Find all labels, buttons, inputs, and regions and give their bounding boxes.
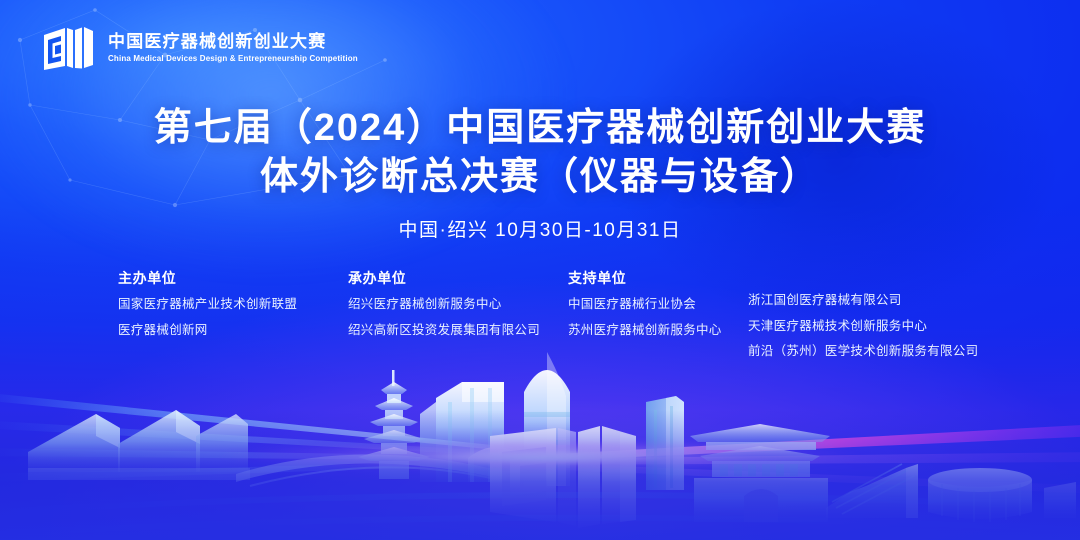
open-book-door-logo-icon bbox=[40, 22, 96, 74]
organizer-item: 医疗器械创新网 bbox=[118, 324, 348, 337]
page-title-line2: 体外诊断总决赛（仪器与设备） bbox=[0, 153, 1080, 202]
organizer-heading: 承办单位 bbox=[348, 268, 568, 288]
organizer-column-coorganizer: 承办单位 绍兴医疗器械创新服务中心 绍兴高新区投资发展集团有限公司 bbox=[348, 268, 568, 336]
organizer-heading: 主办单位 bbox=[118, 268, 348, 288]
event-location-date: 中国·绍兴 10月30日-10月31日 bbox=[0, 215, 1080, 242]
organizer-item: 中国医疗器械行业协会 bbox=[568, 298, 748, 311]
organizer-column-supporter-extra: 浙江国创医疗器械有限公司 天津医疗器械技术创新服务中心 前沿（苏州）医学技术创新… bbox=[748, 268, 998, 358]
brand-text-group: 中国医疗器械创新创业大赛 China Medical Devices Desig… bbox=[108, 33, 358, 63]
organizer-heading: 支持单位 bbox=[568, 268, 748, 288]
brand-name-cn: 中国医疗器械创新创业大赛 bbox=[108, 33, 358, 50]
organizer-item: 国家医疗器械产业技术创新联盟 bbox=[118, 298, 348, 311]
organizers-section: 主办单位 国家医疗器械产业技术创新联盟 医疗器械创新网 承办单位 绍兴医疗器械创… bbox=[118, 268, 998, 358]
organizer-item: 天津医疗器械技术创新服务中心 bbox=[748, 320, 998, 333]
organizer-item: 绍兴高新区投资发展集团有限公司 bbox=[348, 324, 568, 337]
organizer-column-supporter: 支持单位 中国医疗器械行业协会 苏州医疗器械创新服务中心 bbox=[568, 268, 748, 336]
organizer-column-host: 主办单位 国家医疗器械产业技术创新联盟 医疗器械创新网 bbox=[118, 268, 348, 336]
organizer-item: 前沿（苏州）医学技术创新服务有限公司 bbox=[748, 345, 998, 358]
page-title-line1: 第七届（2024）中国医疗器械创新创业大赛 bbox=[0, 104, 1080, 153]
brand-name-en: China Medical Devices Design & Entrepren… bbox=[108, 55, 358, 63]
brand-header: 中国医疗器械创新创业大赛 China Medical Devices Desig… bbox=[40, 22, 358, 74]
organizer-item: 浙江国创医疗器械有限公司 bbox=[748, 294, 998, 307]
title-block: 第七届（2024）中国医疗器械创新创业大赛 体外诊断总决赛（仪器与设备） 中国·… bbox=[0, 104, 1080, 242]
background-bottom-deep bbox=[0, 410, 1080, 540]
organizer-item: 绍兴医疗器械创新服务中心 bbox=[348, 298, 568, 311]
organizer-item: 苏州医疗器械创新服务中心 bbox=[568, 324, 748, 337]
poster-canvas: 中国医疗器械创新创业大赛 China Medical Devices Desig… bbox=[0, 0, 1080, 540]
